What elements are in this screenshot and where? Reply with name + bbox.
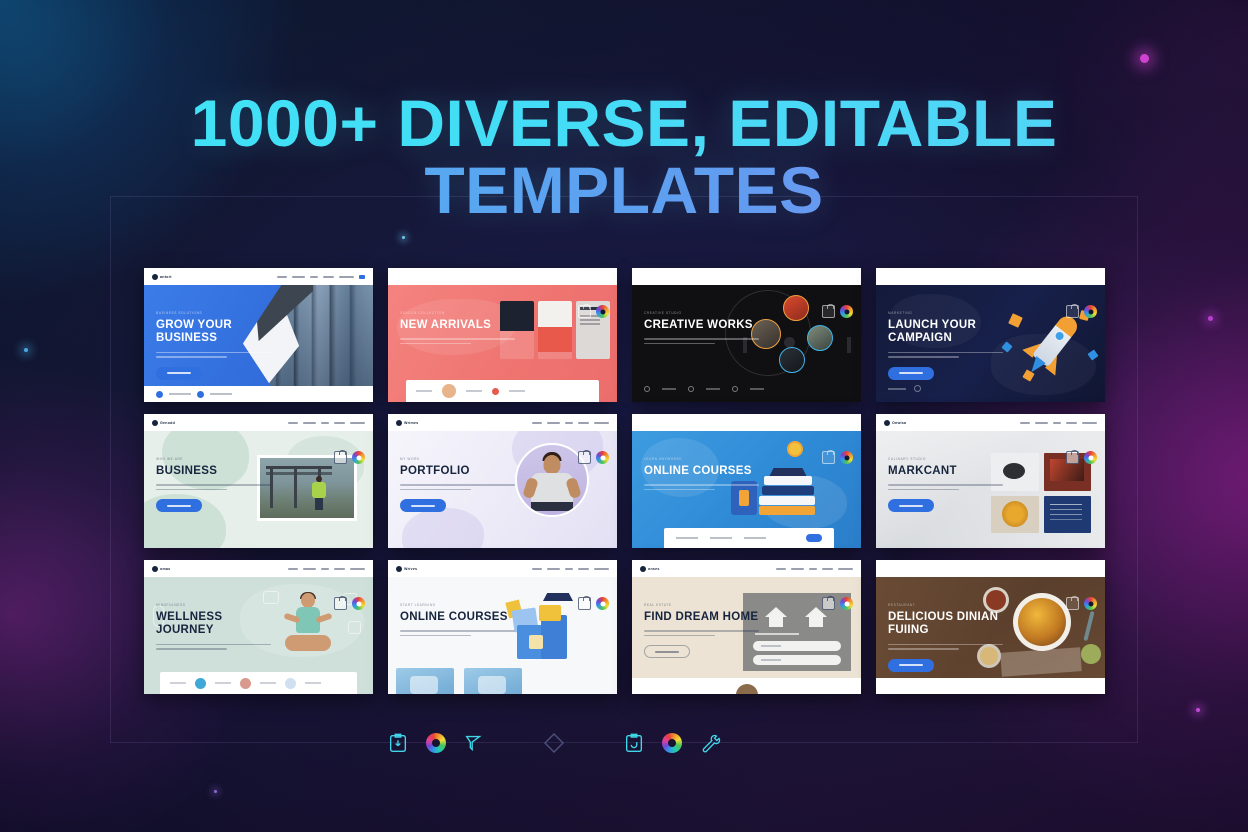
decorative-blob — [402, 508, 484, 548]
clipboard-arrow-icon[interactable] — [379, 724, 417, 762]
hero-title: FIND DREAM HOME — [644, 611, 759, 624]
template-badges — [334, 451, 365, 464]
template-nav: antort — [144, 268, 373, 285]
hero-paragraph — [400, 338, 515, 344]
diamond-icon[interactable] — [535, 724, 573, 762]
hero-paragraph — [888, 644, 1003, 650]
template-hero: MINDFULNESS WELLNESS JOURNEY — [144, 577, 373, 694]
shopping-bag-icon — [1066, 305, 1079, 318]
nav-links[interactable] — [532, 422, 609, 424]
hero-paragraph — [644, 338, 759, 344]
hero-cta-button[interactable] — [644, 645, 690, 658]
nav-links[interactable] — [288, 568, 365, 570]
shopping-bag-icon — [1066, 597, 1079, 610]
food-bowl — [1081, 644, 1101, 664]
hero-eyebrow: MARKETING — [888, 311, 1003, 315]
headline-line-1: 1000+ DIVERSE, EDITABLE — [0, 90, 1248, 157]
medal-icon — [787, 441, 803, 457]
brand-logo: Wrimes — [396, 420, 418, 426]
hero-title: CREATIVE WORKS — [644, 319, 759, 332]
template-nav: Onwia — [876, 268, 1105, 285]
shopping-bag-icon — [822, 451, 835, 464]
brand-logo: Gensta — [640, 274, 662, 280]
food-bowl — [1013, 593, 1071, 651]
hero-eyebrow: CULINARY STUDIO — [888, 457, 1003, 461]
template-card[interactable]: Onwia MARKETING — [876, 268, 1105, 402]
template-card[interactable]: enias RESTAURANT DELICIOUS DINIAN FUIING — [876, 560, 1105, 694]
brand-name: Gensta — [648, 275, 662, 279]
gallery-tile — [1044, 496, 1092, 534]
course-tile — [464, 668, 522, 694]
hero-eyebrow: BUSINESS SOLUTIONS — [156, 311, 271, 315]
hero-title: LAUNCH YOUR CAMPAIGN — [888, 319, 1003, 346]
hero-title: GROW YOUR BUSINESS — [156, 319, 271, 346]
color-wheel-icon — [596, 451, 609, 464]
brand-logo: Genodd — [152, 420, 175, 426]
template-card[interactable]: Wrimes MY WORK PORTFOLIO — [388, 414, 617, 548]
shopping-bag-icon — [578, 597, 591, 610]
hero-footer-strip — [876, 678, 1105, 694]
color-wheel-icon[interactable] — [417, 724, 455, 762]
glow-particle — [1140, 54, 1149, 63]
hero-photo — [257, 455, 357, 521]
template-card[interactable]: Gensta CREATIVE STUDIO CREATIVE WORKS — [632, 268, 861, 402]
hero-cta-button[interactable] — [888, 659, 934, 672]
template-badges — [822, 305, 853, 318]
template-nav: omas — [144, 560, 373, 577]
template-hero: WHO WE ARE BUSINESS — [144, 431, 373, 548]
nav-links[interactable] — [288, 422, 365, 424]
template-card[interactable]: antort BUSINESS SOLUTIONS GROW YOUR BUSI… — [144, 268, 373, 402]
template-nav: Wrives — [388, 560, 617, 577]
template-hero: SEASON COLLECTION NEW ARRIVALS — [388, 285, 617, 402]
nav-links[interactable] — [532, 568, 609, 570]
template-badges — [822, 451, 853, 464]
product-outfit — [538, 301, 572, 359]
brand-name: onses — [648, 567, 660, 571]
brand-logo: Wrives — [396, 566, 417, 572]
hero-paragraph — [888, 484, 1003, 490]
logo-mark-icon — [884, 566, 890, 572]
sketch-outline — [348, 621, 361, 634]
page-title: 1000+ DIVERSE, EDITABLE TEMPLATES — [0, 90, 1248, 225]
template-nav: Onwisa — [876, 414, 1105, 431]
books-illustration — [511, 593, 577, 659]
nav-links[interactable] — [1020, 422, 1097, 424]
portfolio-bubble — [783, 295, 809, 321]
hero-eyebrow: MINDFULNESS — [156, 603, 271, 607]
portfolio-bubble — [779, 347, 805, 373]
shopping-bag-icon — [822, 305, 835, 318]
product-gallery — [991, 453, 1091, 533]
brand-name: enias — [892, 567, 902, 571]
hero-paragraph — [156, 484, 271, 490]
glow-particle — [214, 790, 217, 793]
brand-logo: antort — [152, 274, 172, 280]
hero-eyebrow: LEARN ANYWHERE — [644, 457, 759, 461]
template-badges — [1066, 451, 1097, 464]
hero-eyebrow: SEASON COLLECTION — [400, 311, 515, 315]
template-hero: CULINARY STUDIO MARKCANT — [876, 431, 1105, 548]
template-card[interactable]: OUASE SEASON COLLECTION NEW ARRIVALS — [388, 268, 617, 402]
template-card[interactable]: onses REAL ESTATE FIND DREAM HOME — [632, 560, 861, 694]
template-nav: Esansa — [632, 414, 861, 431]
template-hero: START LEARNING ONLINE COURSES — [388, 577, 617, 694]
brand-name: antort — [160, 275, 172, 279]
yoga-figure — [283, 593, 333, 655]
glow-particle — [24, 348, 28, 352]
hero-cta-button[interactable] — [888, 499, 934, 512]
brand-logo: Onwia — [884, 274, 904, 280]
template-hero: MY WORK PORTFOLIO — [388, 431, 617, 548]
color-wheel-icon — [840, 597, 853, 610]
search-input[interactable] — [753, 655, 841, 665]
logo-mark-icon — [396, 420, 402, 426]
hero-title: ONLINE COURSES — [644, 465, 759, 478]
template-card[interactable]: Wrives START LEARNING ONLINE COURSES — [388, 560, 617, 694]
nav-links[interactable] — [776, 422, 853, 424]
template-badges — [578, 305, 609, 318]
house-icon — [765, 607, 787, 627]
color-wheel-icon[interactable] — [653, 724, 691, 762]
color-wheel-icon — [1084, 305, 1097, 318]
course-tile — [396, 668, 454, 694]
color-wheel-icon — [352, 451, 365, 464]
hero-title: DELICIOUS DINIAN FUIING — [888, 611, 1003, 638]
hero-footer-strip — [406, 380, 598, 402]
template-nav: onses — [632, 560, 861, 577]
logo-mark-icon — [152, 566, 158, 572]
color-wheel-icon — [1084, 451, 1097, 464]
bracket-right — [847, 337, 851, 353]
cursor-select-icon[interactable] — [455, 724, 493, 762]
template-card[interactable]: Onwisa CULINARY STUDIO MARKCANT — [876, 414, 1105, 548]
template-hero: MARKETING LAUNCH YOUR CAMPAIGN — [876, 285, 1105, 402]
brand-name: omas — [160, 567, 170, 571]
template-nav: OUASE — [388, 268, 617, 285]
template-card[interactable]: Genodd WHO WE ARE BUSINESS — [144, 414, 373, 548]
template-hero: REAL ESTATE FIND DREAM HOME — [632, 577, 861, 694]
hero-eyebrow: WHO WE ARE — [156, 457, 271, 461]
template-hero: CREATIVE STUDIO CREATIVE WORKS — [632, 285, 861, 402]
hero-footer-strip — [632, 678, 861, 694]
brand-logo: enias — [884, 566, 902, 572]
shopping-bag-icon — [1066, 451, 1079, 464]
hero-eyebrow: RESTAURANT — [888, 603, 1003, 607]
template-badges — [822, 597, 853, 610]
template-hero: LEARN ANYWHERE ONLINE COURSES — [632, 431, 861, 548]
shopping-bag-icon — [822, 597, 835, 610]
hero-eyebrow: REAL ESTATE — [644, 603, 759, 607]
logo-mark-icon — [152, 274, 158, 280]
hero-paragraph — [400, 484, 515, 490]
color-wheel-icon — [596, 305, 609, 318]
hero-paragraph — [156, 644, 271, 650]
logo-mark-icon — [884, 274, 890, 280]
brand-name: Genodd — [160, 421, 175, 425]
brand-logo: OUASE — [396, 274, 418, 280]
brand-logo: Esansa — [640, 420, 662, 426]
logo-mark-icon — [884, 420, 890, 426]
table-cloth — [1000, 647, 1081, 677]
logo-mark-icon — [396, 274, 402, 280]
graduation-cap-icon — [543, 593, 573, 601]
hero-cta-button[interactable] — [400, 499, 446, 512]
color-wheel-icon — [840, 305, 853, 318]
person-figure — [312, 476, 326, 510]
template-card[interactable]: omas MINDFULNESS WELLNESS JOURNEY — [144, 560, 373, 694]
hero-title: WELLNESS JOURNEY — [156, 611, 271, 638]
hero-footer-meta — [888, 385, 921, 392]
hero-paragraph — [888, 352, 1003, 358]
logo-mark-icon — [640, 566, 646, 572]
hero-paragraph — [644, 484, 759, 490]
template-card[interactable]: Esansa LEARN ANYWHERE ONLINE COURSES — [632, 414, 861, 548]
shopping-bag-icon — [334, 451, 347, 464]
headline-line-2: TEMPLATES — [0, 157, 1248, 224]
search-input[interactable] — [753, 641, 841, 651]
nav-links[interactable] — [277, 275, 365, 279]
brand-name: Onwia — [892, 275, 904, 279]
brand-name: Wrives — [404, 567, 417, 571]
brand-logo: onses — [640, 566, 660, 572]
color-wheel-icon — [840, 451, 853, 464]
wrench-icon[interactable] — [691, 724, 729, 762]
hero-cta-button[interactable] — [888, 367, 934, 380]
template-badges — [578, 597, 609, 610]
hero-title: BUSINESS — [156, 465, 271, 478]
house-icon — [805, 607, 827, 627]
logo-mark-icon — [396, 566, 402, 572]
books-illustration — [759, 467, 821, 515]
form-label — [755, 633, 799, 635]
hero-title: MARKCANT — [888, 465, 1003, 478]
brand-logo: Onwisa — [884, 420, 906, 426]
glow-particle — [1196, 708, 1200, 712]
shopping-bag-icon — [578, 451, 591, 464]
nav-links[interactable] — [1020, 276, 1097, 278]
nav-links[interactable] — [776, 568, 853, 570]
logo-mark-icon — [640, 420, 646, 426]
template-nav: Gensta — [632, 268, 861, 285]
hero-cta-button[interactable] — [156, 367, 202, 380]
nav-links[interactable] — [776, 276, 853, 278]
brand-name: Esansa — [648, 421, 662, 425]
hero-eyebrow: START LEARNING — [400, 603, 515, 607]
shopping-bag-icon — [334, 597, 347, 610]
template-badges — [334, 597, 365, 610]
template-grid: antort BUSINESS SOLUTIONS GROW YOUR BUSI… — [144, 268, 1104, 698]
portfolio-bubble — [807, 325, 833, 351]
nav-links[interactable] — [1020, 568, 1097, 570]
brand-name: OUASE — [404, 275, 418, 279]
logo-mark-icon — [640, 274, 646, 280]
template-hero: BUSINESS SOLUTIONS GROW YOUR BUSINESS — [144, 285, 373, 402]
template-nav: enias — [876, 560, 1105, 577]
nav-links[interactable] — [532, 276, 609, 278]
hero-title: PORTFOLIO — [400, 465, 515, 478]
glow-particle — [1208, 316, 1213, 321]
brand-name: Onwisa — [892, 421, 906, 425]
hero-paragraph — [156, 352, 271, 358]
hero-footer-icons — [644, 386, 764, 392]
hero-title: NEW ARRIVALS — [400, 319, 515, 332]
shopping-bag-icon — [578, 305, 591, 318]
template-hero: RESTAURANT DELICIOUS DINIAN FUIING — [876, 577, 1105, 694]
template-badges — [1066, 597, 1097, 610]
color-wheel-icon — [352, 597, 365, 610]
hero-cta-button[interactable] — [156, 499, 202, 512]
template-badges — [1066, 305, 1097, 318]
clipboard-stamp-icon[interactable] — [615, 724, 653, 762]
brand-name: Wrimes — [404, 421, 418, 425]
course-search-bar[interactable] — [664, 528, 833, 548]
hero-eyebrow: MY WORK — [400, 457, 515, 461]
decorative-shard — [1008, 313, 1023, 328]
tool-icon-row — [0, 724, 1248, 762]
logo-mark-icon — [152, 420, 158, 426]
template-nav: Wrimes — [388, 414, 617, 431]
template-badges — [578, 451, 609, 464]
spoon-icon — [1083, 611, 1094, 641]
hero-paragraph — [400, 630, 515, 636]
brand-logo: omas — [152, 566, 170, 572]
hero-footer-strip — [160, 672, 357, 694]
course-tiles — [396, 668, 522, 694]
hero-eyebrow: CREATIVE STUDIO — [644, 311, 759, 315]
color-wheel-icon — [596, 597, 609, 610]
color-wheel-icon — [1084, 597, 1097, 610]
hero-title: ONLINE COURSES — [400, 611, 515, 624]
hero-paragraph — [644, 630, 759, 636]
hero-footer-strip — [144, 386, 373, 402]
template-nav: Genodd — [144, 414, 373, 431]
